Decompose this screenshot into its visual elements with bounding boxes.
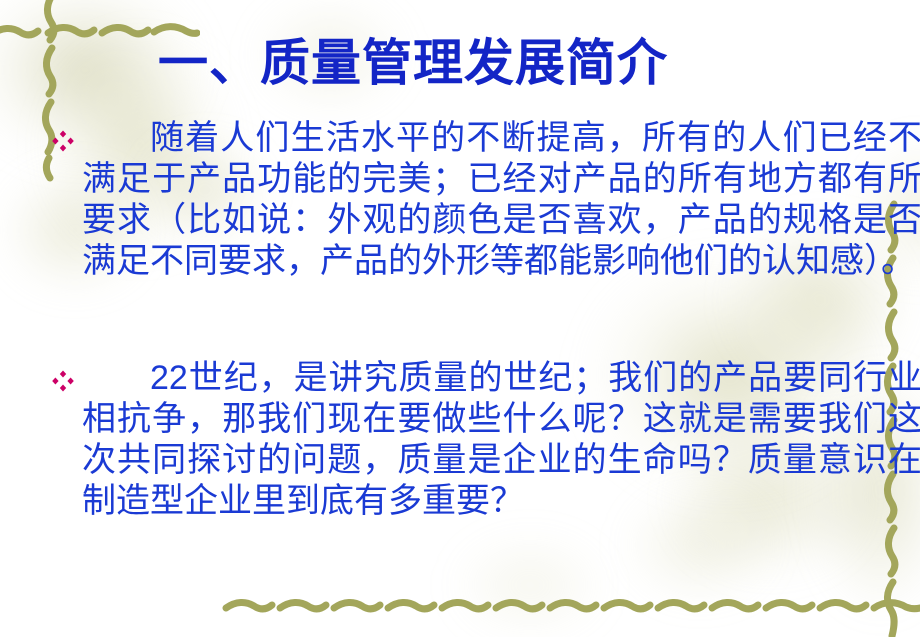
diamond-cluster-bullet-icon [52, 130, 74, 152]
bullet-paragraph: 随着人们生活水平的不断提高，所有的人们已经不满足于产品功能的完美；已经对产品的所… [82, 118, 920, 282]
foliage-watermark [430, 520, 630, 637]
bullet-item: 22世纪，是讲究质量的世纪；我们的产品要同行业相抗争，那我们现在要做些什么呢？这… [52, 358, 920, 522]
diamond-cluster-bullet-icon [52, 370, 74, 392]
presentation-slide: 一、质量管理发展简介 随着人们生活水平的不断提高，所有的人们已经不满足于产品功能… [0, 0, 920, 637]
bullet-item: 随着人们生活水平的不断提高，所有的人们已经不满足于产品功能的完美；已经对产品的所… [52, 118, 920, 282]
bullet-paragraph: 22世纪，是讲究质量的世纪；我们的产品要同行业相抗争，那我们现在要做些什么呢？这… [82, 358, 920, 522]
slide-title: 一、质量管理发展简介 [158, 33, 668, 93]
branch-bottom-horizontal-icon [222, 592, 920, 622]
